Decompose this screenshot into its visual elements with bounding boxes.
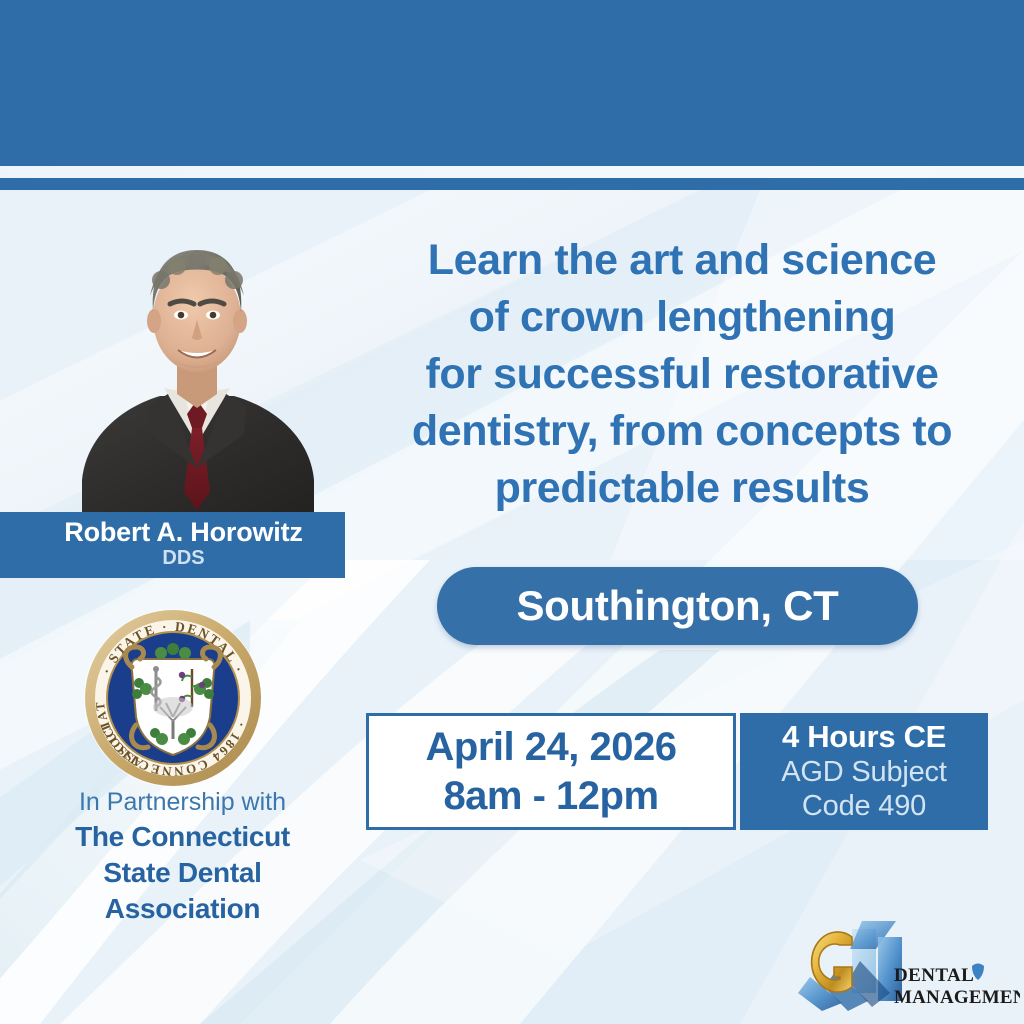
ce-hours: 4 Hours CE [782, 719, 946, 755]
partner-organization-name: The Connecticut State Dental Association [10, 819, 355, 927]
location-label: Southington, CT [516, 582, 838, 630]
header-accent-stripe [0, 178, 1024, 190]
poster-canvas: Crown Lenthening for Restorative Dentist… [0, 0, 1024, 1024]
logo-line2: MANAGEMENT [894, 987, 1020, 1008]
speaker-credential: DDS [0, 547, 345, 570]
location-pill: Southington, CT [437, 567, 918, 645]
partnership-block: In Partnership with The Connecticut Stat… [10, 786, 355, 927]
partnership-intro: In Partnership with [10, 786, 355, 819]
event-date: April 24, 2026 [426, 723, 677, 772]
speaker-name-banner: Robert A. Horowitz DDS [0, 512, 345, 578]
gm-dental-management-logo: DENTAL MANAGEMENT [790, 915, 1020, 1015]
header-band [0, 0, 1024, 166]
event-time: 8am - 12pm [443, 772, 658, 821]
logo-line1: DENTAL [894, 965, 974, 986]
ce-credit-box: 4 Hours CE AGD Subject Code 490 [740, 713, 988, 830]
ce-subject-code: AGD Subject Code 490 [781, 755, 946, 823]
speaker-photo [64, 222, 330, 514]
speaker-name: Robert A. Horowitz [0, 517, 345, 547]
csda-seal-icon: · STATE · DENTAL · · 1864 · CONNECTICUT … [82, 607, 264, 789]
event-date-box: April 24, 2026 8am - 12pm [366, 713, 736, 830]
course-description: Learn the art and science of crown lengt… [372, 232, 992, 517]
